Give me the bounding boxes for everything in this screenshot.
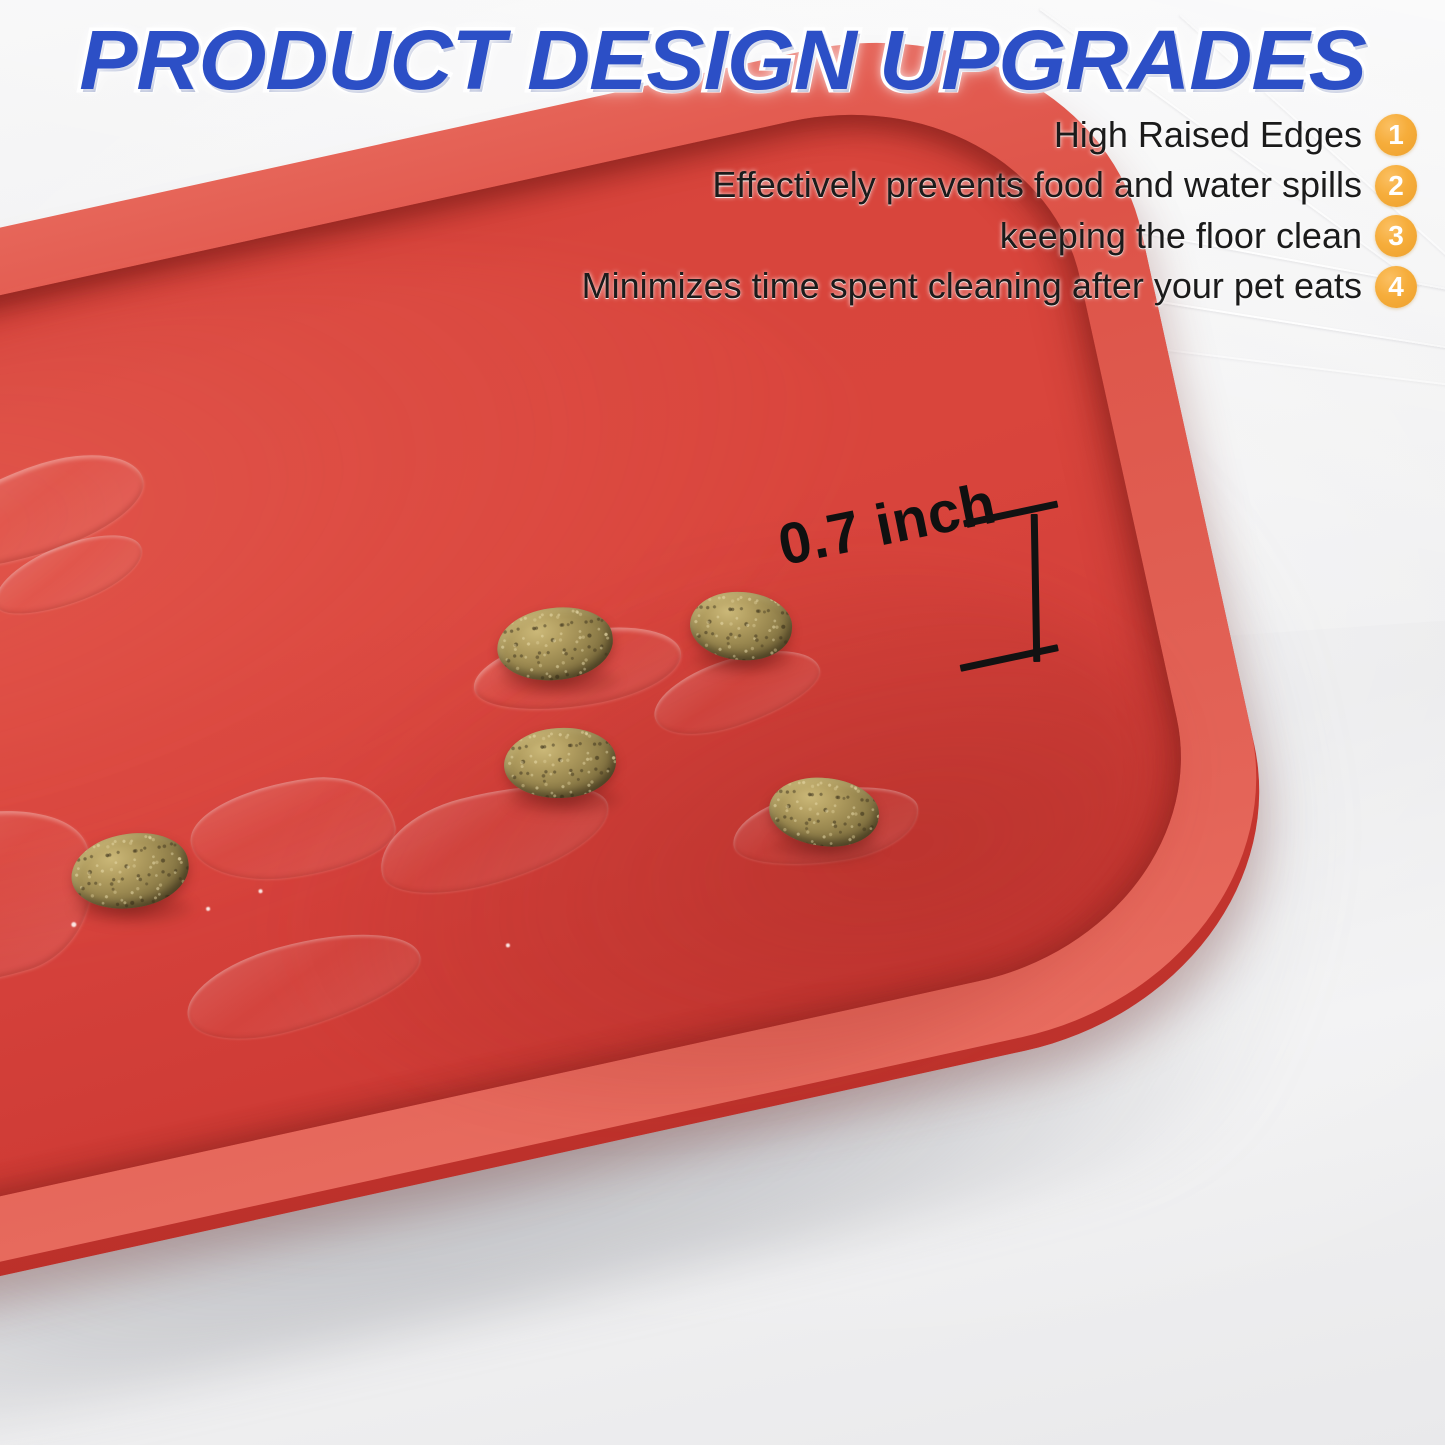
feature-item: Effectively prevents food and water spil… — [712, 164, 1417, 206]
feature-number-badge: 2 — [1375, 165, 1417, 207]
feature-number-badge: 3 — [1375, 215, 1417, 257]
product-infographic: 0.7 inch PRODUCT DESIGN UPGRADES High Ra… — [0, 0, 1445, 1445]
feature-item: Minimizes time spent cleaning after your… — [582, 265, 1417, 307]
feature-number-badge: 1 — [1375, 114, 1417, 156]
feature-list: High Raised Edges 1 Effectively prevents… — [582, 114, 1417, 308]
page-title: PRODUCT DESIGN UPGRADES — [0, 16, 1445, 104]
feature-item: High Raised Edges 1 — [1054, 114, 1417, 156]
dimension-stem — [1031, 514, 1041, 662]
feature-label: keeping the floor clean — [1000, 215, 1362, 257]
feature-item: keeping the floor clean 3 — [1000, 215, 1417, 257]
dimension-line — [989, 507, 1082, 669]
feature-label: Effectively prevents food and water spil… — [712, 164, 1362, 206]
feature-number-badge: 4 — [1375, 266, 1417, 308]
feature-label: High Raised Edges — [1054, 114, 1362, 156]
feature-label: Minimizes time spent cleaning after your… — [582, 265, 1362, 307]
